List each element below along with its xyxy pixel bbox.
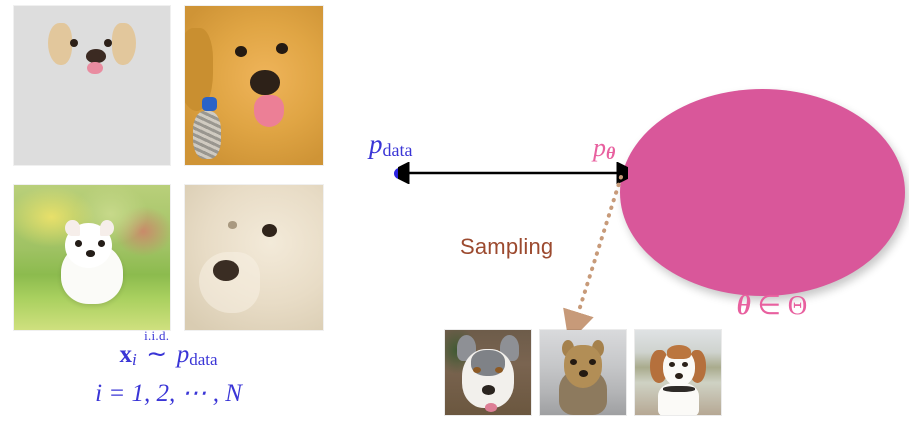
generated-image-yorkshire-terrier-dog bbox=[540, 330, 626, 415]
iid-formula-block: xii.i.d.∼pdata i = 1, 2, ⋯ , N bbox=[14, 338, 323, 411]
nose bbox=[213, 260, 239, 280]
ear-left bbox=[65, 220, 79, 236]
formula-distribution-subscript: data bbox=[189, 350, 217, 369]
training-image-white-pomeranian-puppy bbox=[14, 185, 170, 330]
p-theta-base: p bbox=[593, 133, 606, 162]
p-data-base: p bbox=[369, 129, 383, 159]
eye-left bbox=[75, 240, 82, 247]
head-patch bbox=[667, 345, 691, 359]
formula-line-sampling: xii.i.d.∼pdata bbox=[14, 338, 323, 377]
nose bbox=[579, 370, 588, 377]
ear-right bbox=[112, 23, 135, 64]
eye-far bbox=[228, 221, 238, 228]
head bbox=[564, 345, 602, 388]
model-family-ellipse bbox=[620, 89, 905, 296]
p-theta-subscript: θ bbox=[606, 143, 615, 163]
eye-right bbox=[589, 359, 596, 365]
eye-right bbox=[98, 240, 105, 247]
element-of-symbol: ∈ bbox=[757, 290, 781, 320]
formula-variable-x: x bbox=[119, 341, 132, 368]
iid-relation: i.i.d.∼ bbox=[137, 338, 177, 372]
diagram-canvas: xii.i.d.∼pdata i = 1, 2, ⋯ , N θ ∈ Θ pda… bbox=[0, 0, 909, 434]
generated-samples-row bbox=[445, 330, 730, 416]
generated-image-spaniel-dog bbox=[635, 330, 721, 415]
tongue bbox=[485, 403, 497, 412]
training-image-cream-puppy-profile bbox=[185, 185, 323, 330]
eye-right bbox=[276, 43, 288, 54]
tongue bbox=[87, 62, 103, 75]
p-data-subscript: data bbox=[383, 140, 413, 160]
nose bbox=[86, 250, 95, 257]
collar bbox=[663, 386, 696, 392]
eye-left bbox=[570, 359, 577, 365]
collar-tag bbox=[202, 97, 217, 111]
p-data-label: pdata bbox=[369, 129, 412, 161]
eye-left bbox=[235, 46, 247, 57]
training-image-grid bbox=[14, 6, 323, 330]
eye-right bbox=[104, 39, 112, 47]
training-image-golden-retriever-puppy-running bbox=[14, 6, 170, 165]
nose bbox=[482, 385, 495, 394]
ear-right bbox=[100, 220, 114, 236]
formula-line-index-range: i = 1, 2, ⋯ , N bbox=[14, 377, 323, 411]
sampling-dotted-arrow bbox=[540, 170, 640, 335]
big-theta-symbol: Θ bbox=[788, 290, 808, 320]
theta-symbol: θ bbox=[737, 290, 751, 320]
formula-distribution-p: p bbox=[177, 341, 190, 368]
theta-membership-label: θ ∈ Θ bbox=[697, 290, 847, 321]
iid-label: i.i.d. bbox=[137, 319, 177, 353]
ear-left bbox=[48, 23, 71, 64]
tongue bbox=[254, 95, 284, 127]
nose bbox=[250, 70, 280, 95]
generated-image-husky-dog bbox=[445, 330, 531, 415]
p-theta-label: pθ bbox=[593, 133, 615, 164]
eye-left bbox=[70, 39, 78, 47]
training-image-golden-retriever-puppy-closeup bbox=[185, 6, 323, 165]
collar-chain bbox=[193, 111, 221, 159]
eye bbox=[262, 224, 277, 237]
